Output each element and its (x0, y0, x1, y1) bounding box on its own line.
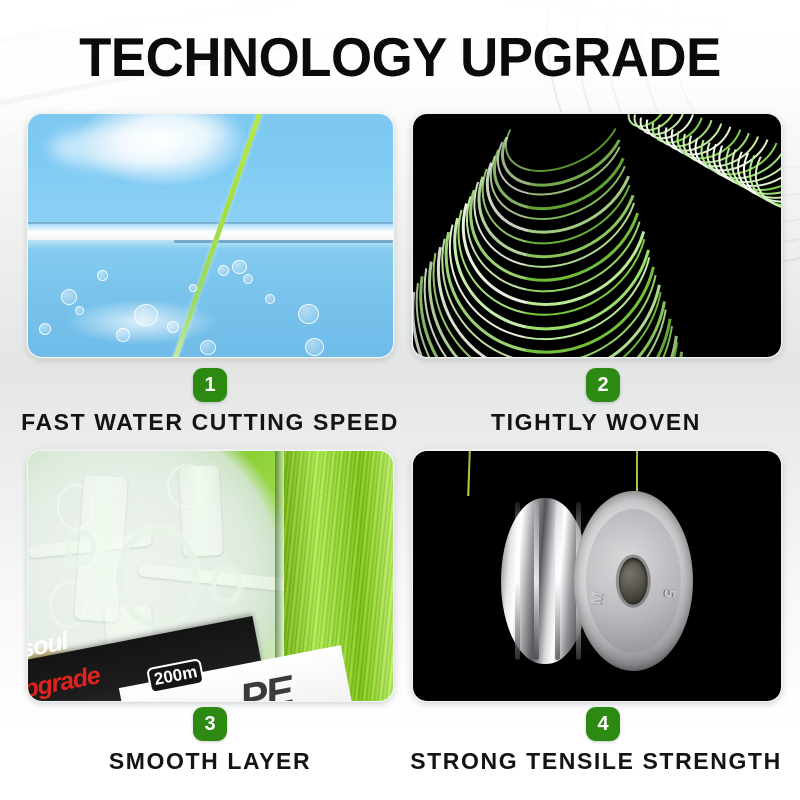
page-title: TECHNOLOGY UPGRADE (16, 27, 784, 87)
bubble-shape (39, 323, 51, 335)
plate-ridge (515, 502, 520, 660)
spool-hub (116, 526, 199, 628)
bubble-shape (189, 284, 197, 292)
bubble-shape (61, 289, 77, 305)
feature-panel-4: M 5 (412, 450, 782, 702)
infographic-page: TECHNOLOGY UPGRADE 1 FAST WATER CUTTING … (0, 0, 800, 800)
sun-glow (79, 113, 247, 186)
feature-caption-2: TIGHTLY WOVEN (392, 409, 800, 436)
waterline-edge (174, 240, 393, 243)
weight-plate-stack: M 5 (501, 491, 692, 671)
sky-region (28, 114, 393, 231)
feature-panel-3: PE -soul Upgrade 200m (27, 450, 394, 702)
feature-badge-1: 1 (193, 368, 227, 402)
spool-rivet (211, 566, 243, 604)
feature-panel-1 (27, 113, 394, 358)
background-streak (431, 0, 730, 27)
feature-caption-3: SMOOTH LAYER (0, 748, 420, 775)
feature-caption-4: STRONG TENSILE STRENGTH (392, 748, 800, 775)
feature-badge-4: 4 (586, 707, 620, 741)
braided-strands (413, 114, 781, 357)
bubble-shape (97, 270, 108, 281)
bubble-shape (305, 338, 324, 356)
bubble-shape (167, 321, 179, 333)
bubble-shape (116, 328, 130, 342)
feature-panel-2 (412, 113, 782, 358)
feature-badge-2: 2 (586, 368, 620, 402)
feature-badge-3: 3 (193, 707, 227, 741)
bubble-shape (218, 265, 229, 276)
feature-caption-1: FAST WATER CUTTING SPEED (0, 409, 420, 436)
bubble-shape (134, 304, 158, 326)
specular-glow (524, 505, 669, 656)
spool-rivet (65, 529, 97, 567)
bubble-shape (200, 340, 216, 355)
bubble-shape (298, 304, 319, 324)
